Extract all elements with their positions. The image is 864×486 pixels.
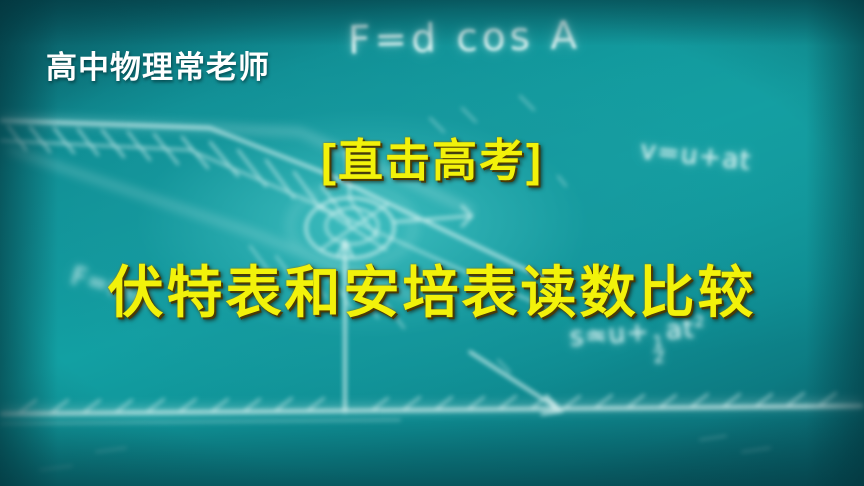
right-shadow-overlay (806, 0, 864, 486)
channel-watermark: 高中物理常老师 (46, 42, 270, 87)
bottom-shadow-overlay (0, 416, 864, 486)
subtitle-text: [直击高考] (0, 124, 864, 189)
page-title: 伏特表和安培表读数比较 (0, 248, 864, 329)
top-shadow-overlay (0, 0, 864, 46)
video-title-card: F=d cos A v=u+at s=u+12at2 F=ma 高中物理常老师 … (0, 0, 864, 486)
